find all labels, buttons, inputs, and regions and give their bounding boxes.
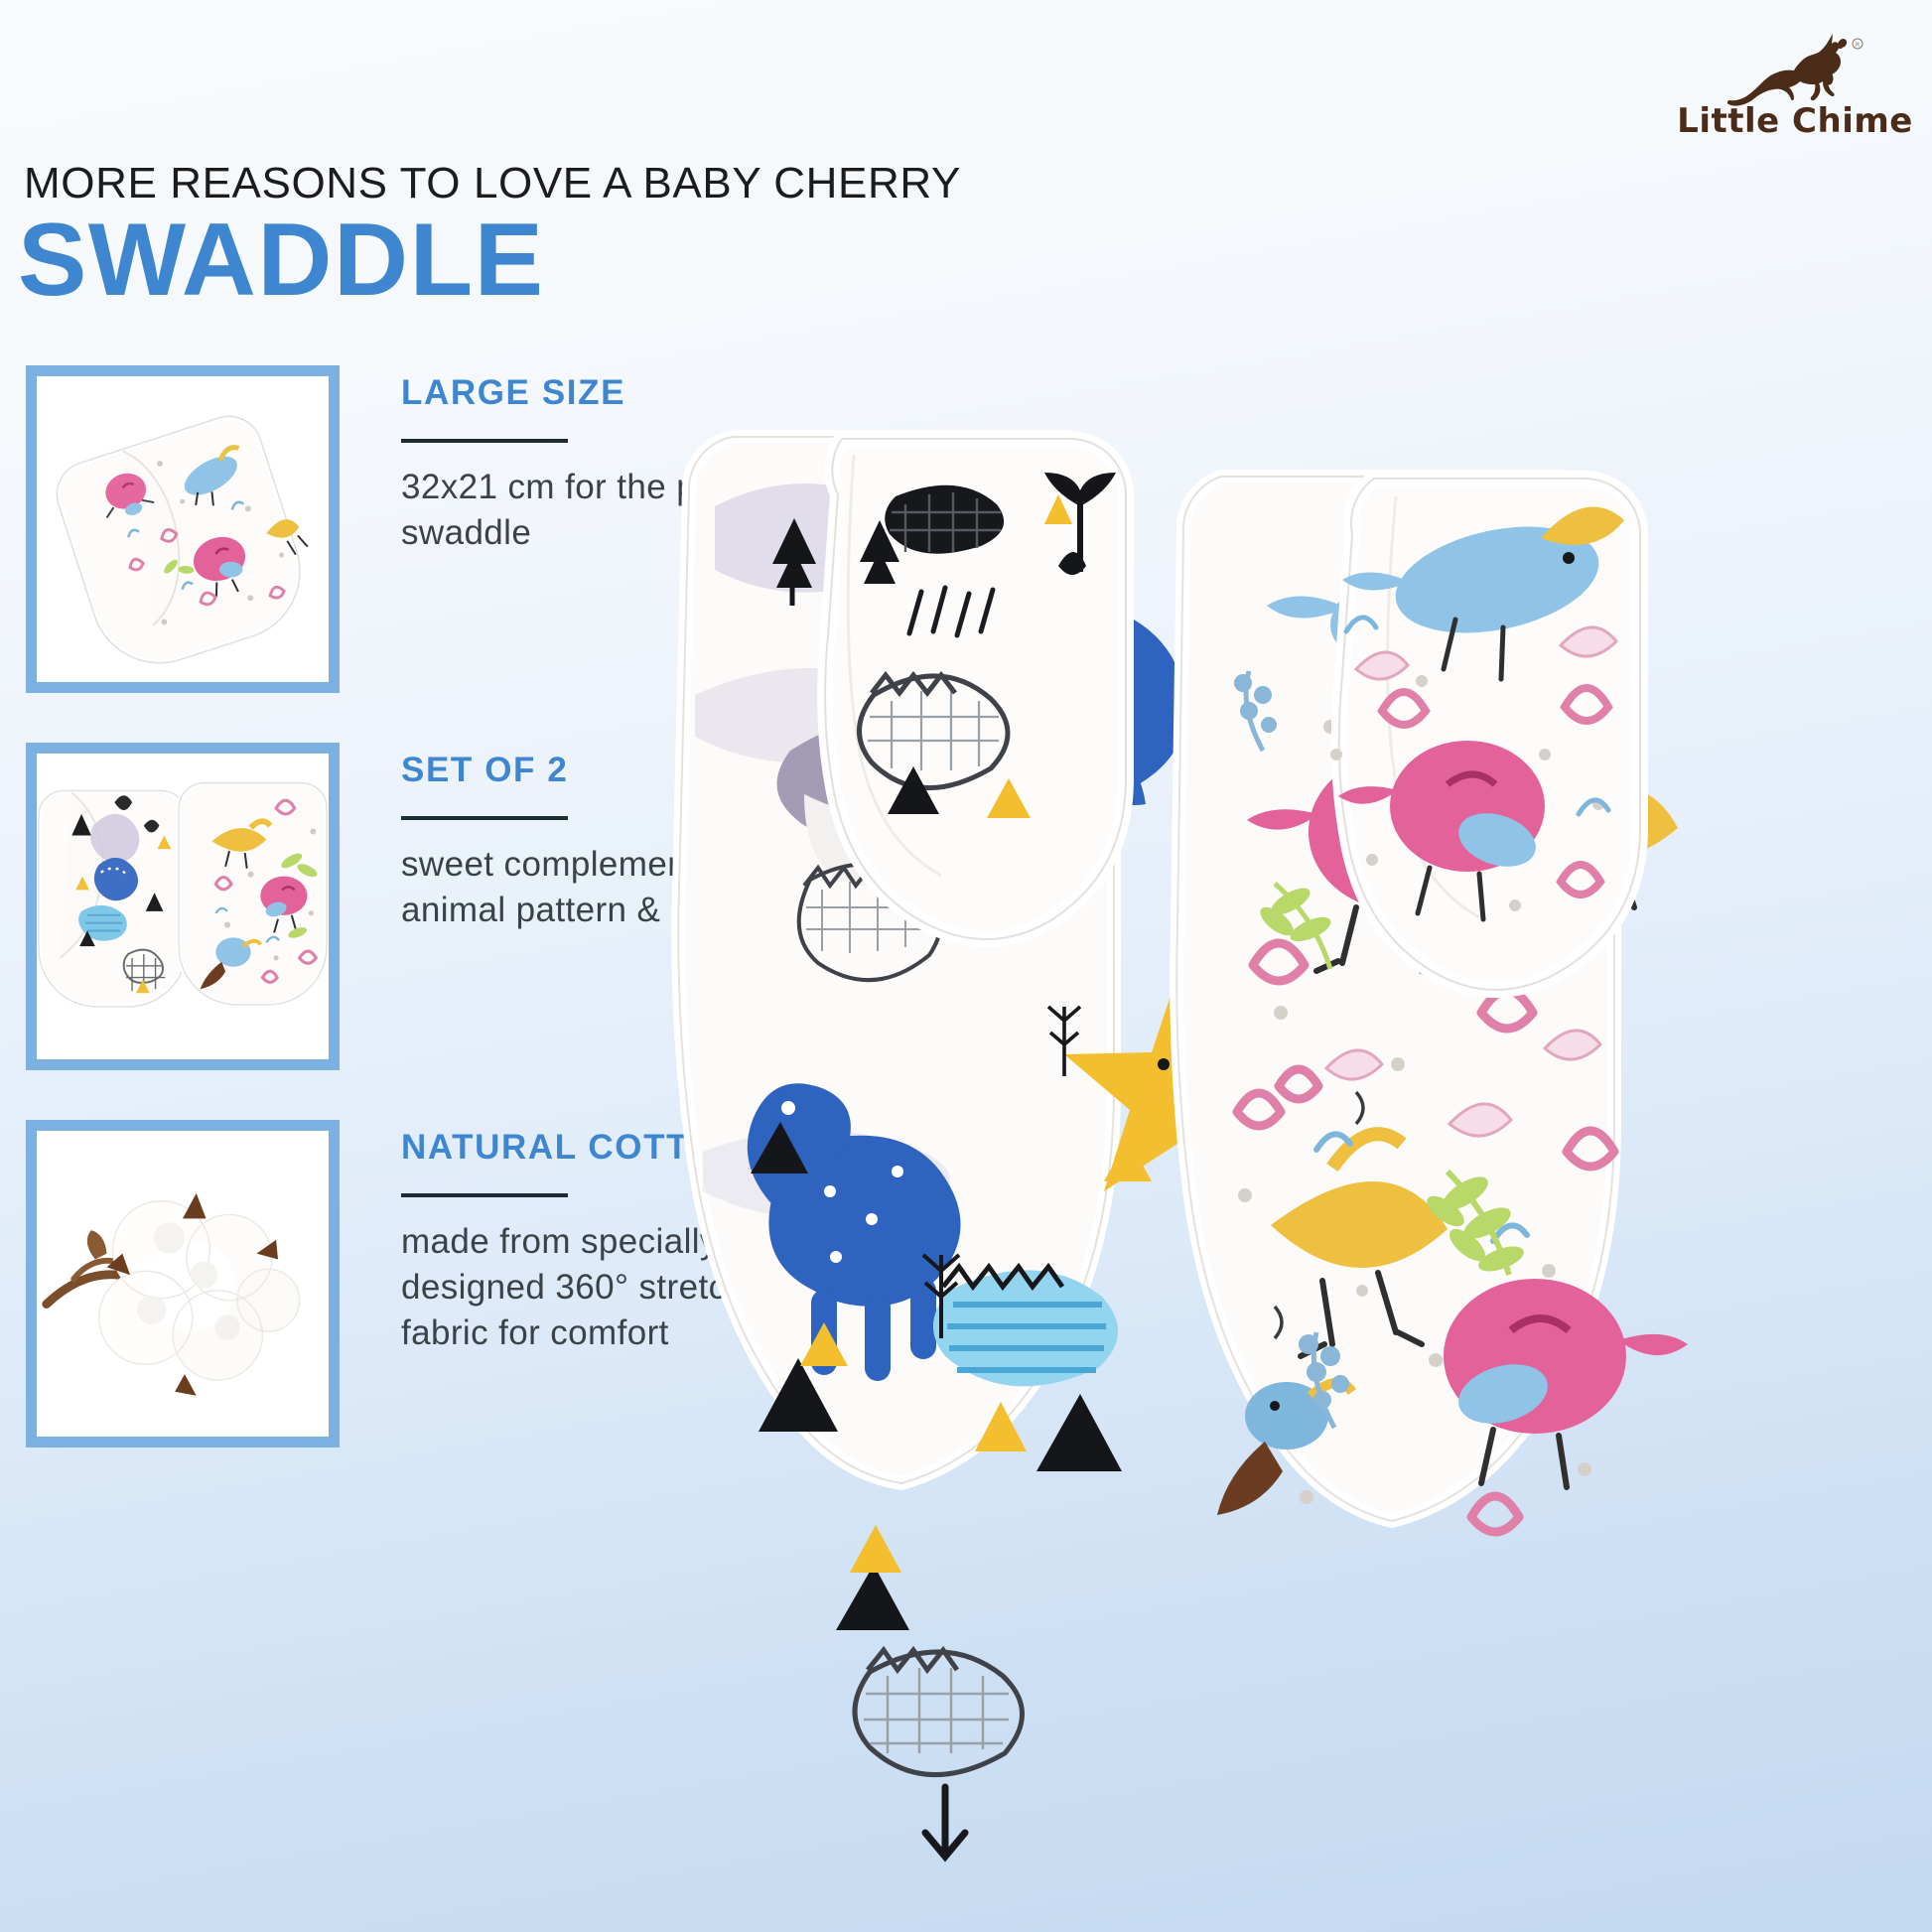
thumbnail-pair-of-swaddles [26,743,340,1070]
kicker-heading: MORE REASONS TO LOVE A BABY CHERRY [24,159,961,208]
hero-product-photo [655,397,1916,1588]
kangaroo-icon: R [1721,38,1869,99]
pink-bird-swaddle-art [37,376,329,682]
bird-swaddle [1176,477,1688,1532]
feature-divider [401,1193,568,1197]
brand-name: Little Chime [1677,101,1913,141]
page-title: SWADDLE [18,207,545,315]
feature-divider [401,816,568,820]
hero-swaddles-art [655,397,1916,1588]
feature-divider [401,439,568,443]
svg-text:R: R [1856,42,1860,49]
thumbnail-pink-bird-swaddle [26,365,340,693]
pair-of-swaddles-art [37,754,329,1059]
raw-cotton-art [37,1131,329,1437]
thumbnail-raw-cotton [26,1120,340,1448]
brand-logo: R Little Chime [1696,38,1894,155]
